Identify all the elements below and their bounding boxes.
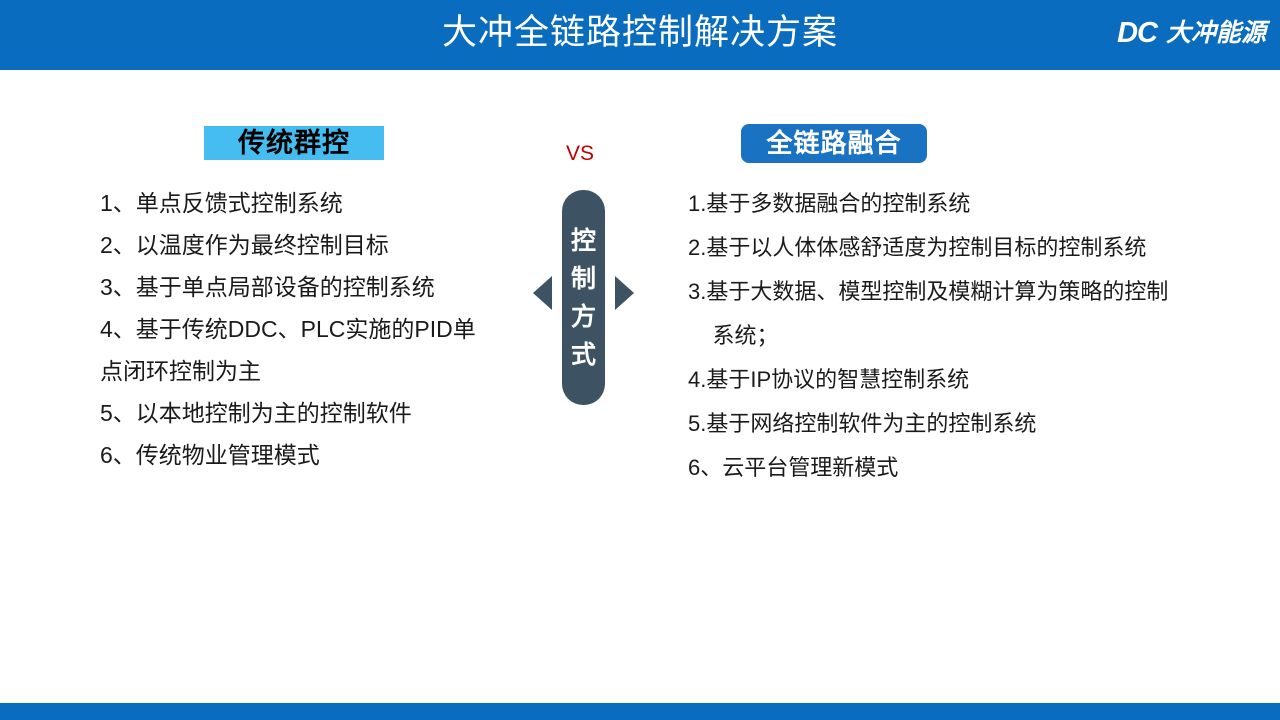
brand-name-text: 大冲能源 [1166,16,1266,50]
arrow-left-icon [533,276,552,310]
legacy-column-heading: 传统群控 [204,126,384,160]
brand-mark-text: DC [1117,16,1157,50]
list-item: 3、基于单点局部设备的控制系统 [100,266,540,308]
fullchain-feature-list: 1.基于多数据融合的控制系统 2.基于以人体体感舒适度为控制目标的控制系统 3.… [688,182,1280,490]
list-item: 4.基于IP协议的智慧控制系统 [688,358,1280,402]
list-item: 3.基于大数据、模型控制及模糊计算为策略的控制 系统； [688,270,1280,358]
list-item: 5.基于网络控制软件为主的控制系统 [688,402,1280,446]
control-method-pill: 控 制 方 式 [562,190,605,405]
list-item: 2、以温度作为最终控制目标 [100,224,540,266]
list-item: 5、以本地控制为主的控制软件 [100,392,540,434]
pill-char: 方 [571,299,596,335]
list-item: 4、基于传统DDC、PLC实施的PID单 点闭环控制为主 [100,308,540,392]
footer-bar [0,703,1280,720]
fullchain-column-heading: 全链路融合 [741,124,927,163]
list-item: 1.基于多数据融合的控制系统 [688,182,1280,226]
pill-char: 控 [571,223,596,259]
list-item: 6、传统物业管理模式 [100,434,540,476]
arrow-right-icon [615,276,634,310]
pill-char: 制 [571,261,596,297]
slide-canvas: 大冲全链路控制解决方案 DC 大冲能源 传统群控 VS 全链路融合 1、单点反馈… [0,0,1280,720]
page-title: 大冲全链路控制解决方案 [0,8,1280,58]
list-item: 2.基于以人体体感舒适度为控制目标的控制系统 [688,226,1280,270]
vs-label: VS [556,141,604,167]
legacy-feature-list: 1、单点反馈式控制系统 2、以温度作为最终控制目标 3、基于单点局部设备的控制系… [100,182,540,476]
pill-char: 式 [571,337,596,373]
brand-logo: DC 大冲能源 [1117,16,1266,50]
list-item: 1、单点反馈式控制系统 [100,182,540,224]
list-item: 6、云平台管理新模式 [688,446,1280,490]
